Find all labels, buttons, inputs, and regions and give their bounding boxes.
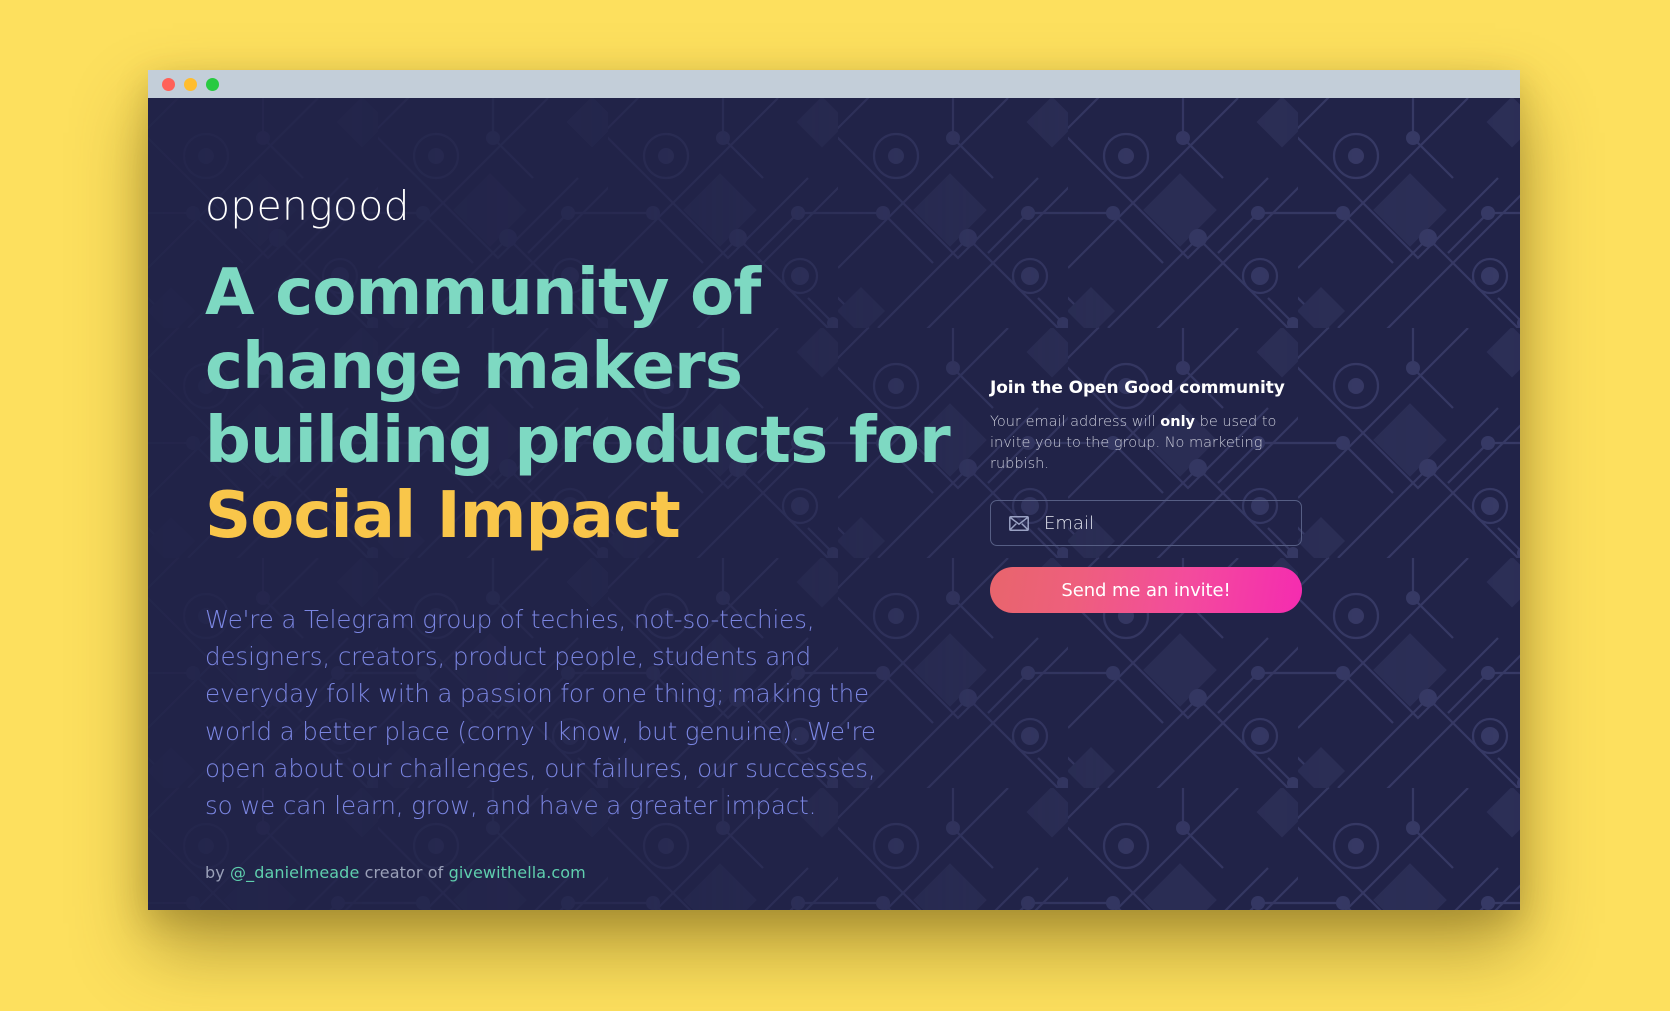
hero-description: We're a Telegram group of techies, not-s…	[205, 601, 905, 824]
email-input[interactable]	[1044, 513, 1283, 534]
byline-prefix: by	[205, 863, 230, 882]
author-handle-link[interactable]: @_danielmeade	[230, 863, 359, 882]
minimize-button[interactable]	[184, 78, 197, 91]
signup-title: Join the Open Good community	[990, 378, 1302, 398]
headline-primary-text: A community of change makers building pr…	[205, 256, 950, 478]
close-button[interactable]	[162, 78, 175, 91]
send-invite-button[interactable]: Send me an invite!	[990, 567, 1302, 613]
byline: by @_danielmeade creator of givewithella…	[205, 863, 975, 882]
window-titlebar	[148, 70, 1520, 98]
author-site-link[interactable]: givewithella.com	[449, 863, 586, 882]
envelope-icon	[1009, 516, 1029, 531]
email-field-wrapper[interactable]	[990, 500, 1302, 546]
page-title: A community of change makers building pr…	[205, 256, 975, 553]
signup-note-before: Your email address will	[990, 414, 1160, 430]
hero-content: opengood A community of change makers bu…	[205, 186, 975, 882]
signup-note-emphasis: only	[1160, 414, 1195, 430]
byline-middle: creator of	[359, 863, 448, 882]
signup-note: Your email address will only be used to …	[990, 412, 1302, 475]
maximize-button[interactable]	[206, 78, 219, 91]
page-viewport: opengood A community of change makers bu…	[148, 98, 1520, 910]
site-logo: opengood	[205, 186, 975, 227]
headline-accent-text: Social Impact	[205, 479, 680, 553]
browser-window: opengood A community of change makers bu…	[148, 70, 1520, 910]
signup-panel: Join the Open Good community Your email …	[990, 378, 1302, 613]
